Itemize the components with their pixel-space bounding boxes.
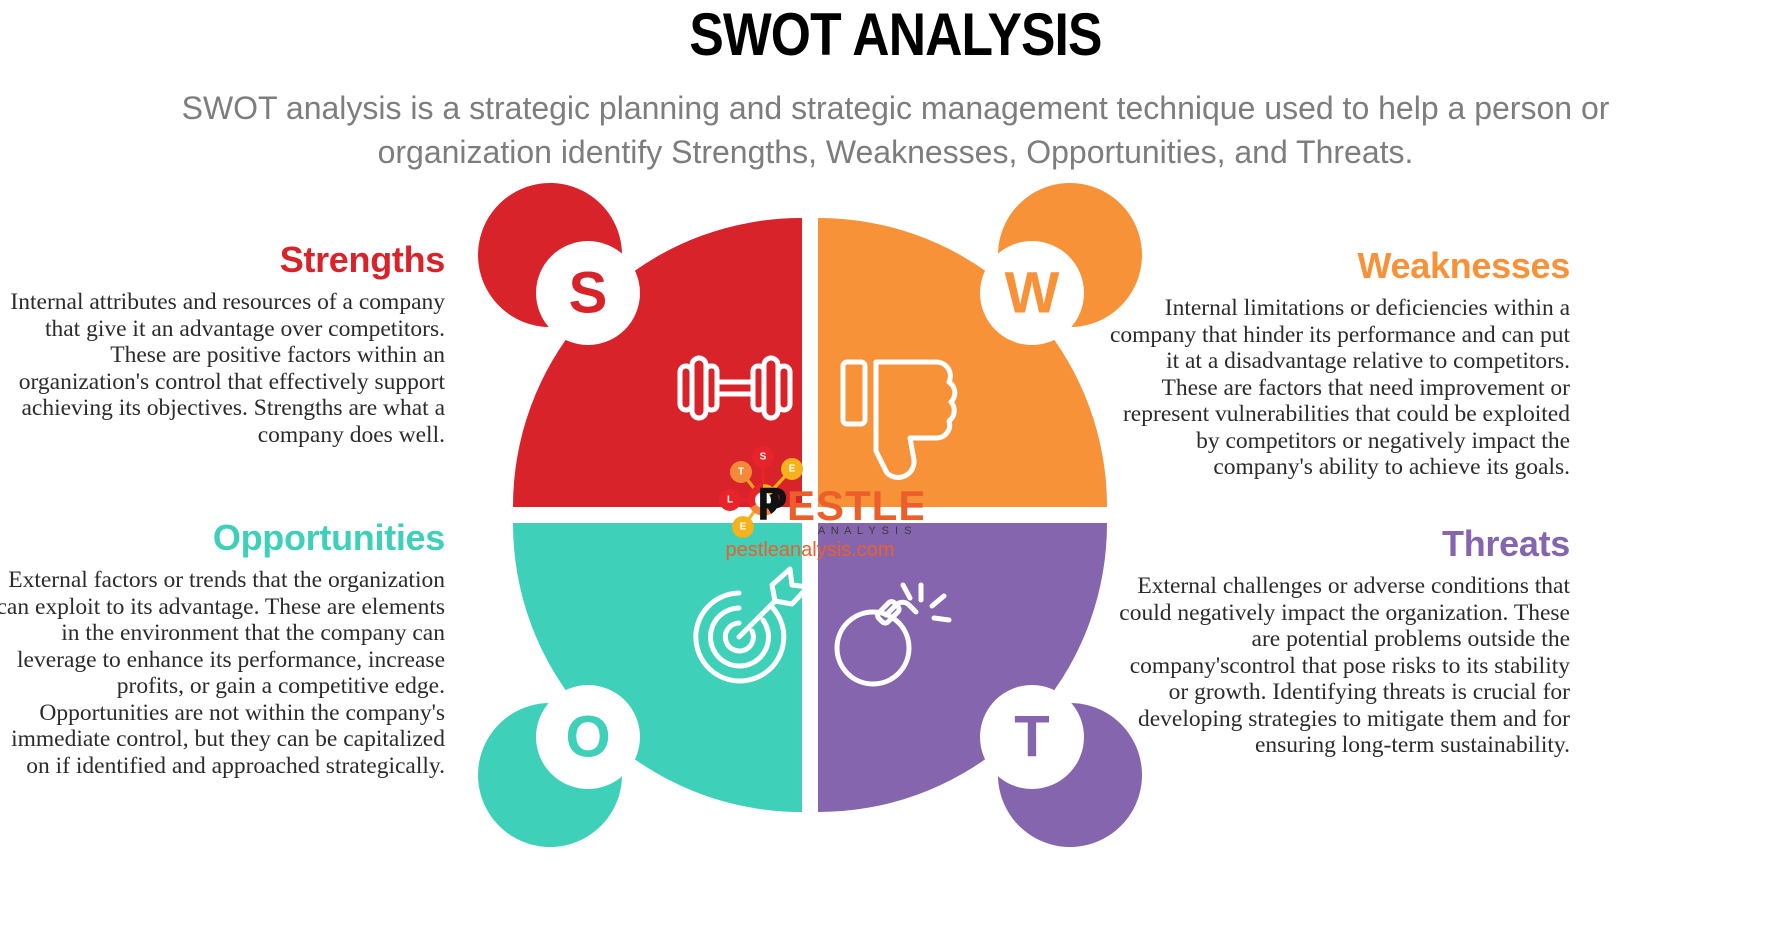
opportunities-body: External factors or trends that the orga…: [0, 567, 445, 779]
page-title: SWOT ANALYSIS: [125, 2, 1665, 68]
weaknesses-body: Internal limitations or deficiencies wit…: [1105, 295, 1570, 481]
logo-wordmark-p: P: [757, 478, 788, 530]
header: SWOT ANALYSIS SWOT analysis is a strateg…: [0, 0, 1791, 174]
opportunities-petal[interactable]: [478, 523, 802, 847]
weaknesses-text-block: Weaknesses Internal limitations or defic…: [1105, 246, 1570, 481]
svg-text:E: E: [740, 522, 747, 533]
strengths-letter: S: [569, 261, 608, 326]
swot-infographic: SWOT ANALYSIS SWOT analysis is a strateg…: [0, 0, 1791, 934]
threats-letter: T: [1014, 705, 1049, 770]
quadrant-opportunities[interactable]: [478, 523, 802, 847]
strengths-text-block: Strengths Internal attributes and resour…: [0, 240, 445, 448]
weaknesses-heading: Weaknesses: [1105, 246, 1570, 286]
logo-subword: A N A L Y S I S: [818, 525, 913, 537]
threats-text-block: Threats External challenges or adverse c…: [1105, 524, 1570, 759]
strengths-body: Internal attributes and resources of a c…: [0, 289, 445, 448]
svg-text:E: E: [789, 464, 796, 475]
logo-wordmark-rest: ESTLE: [787, 482, 923, 529]
page-subtitle: SWOT analysis is a strategic planning an…: [116, 86, 1676, 174]
strengths-heading: Strengths: [0, 240, 445, 280]
opportunities-letter: O: [565, 705, 610, 770]
svg-text:S: S: [760, 452, 767, 463]
weaknesses-letter: W: [1005, 261, 1060, 326]
opportunities-text-block: Opportunities External factors or trends…: [0, 518, 445, 779]
svg-text:L: L: [727, 495, 733, 506]
logo-url[interactable]: pestleanalysis.com: [697, 539, 923, 562]
opportunities-heading: Opportunities: [0, 518, 445, 558]
threats-body: External challenges or adverse condition…: [1105, 573, 1570, 759]
svg-text:T: T: [738, 467, 744, 478]
threats-heading: Threats: [1105, 524, 1570, 564]
pestle-logo[interactable]: T S E L E P ESTLE A N A L Y S I S: [697, 438, 923, 563]
